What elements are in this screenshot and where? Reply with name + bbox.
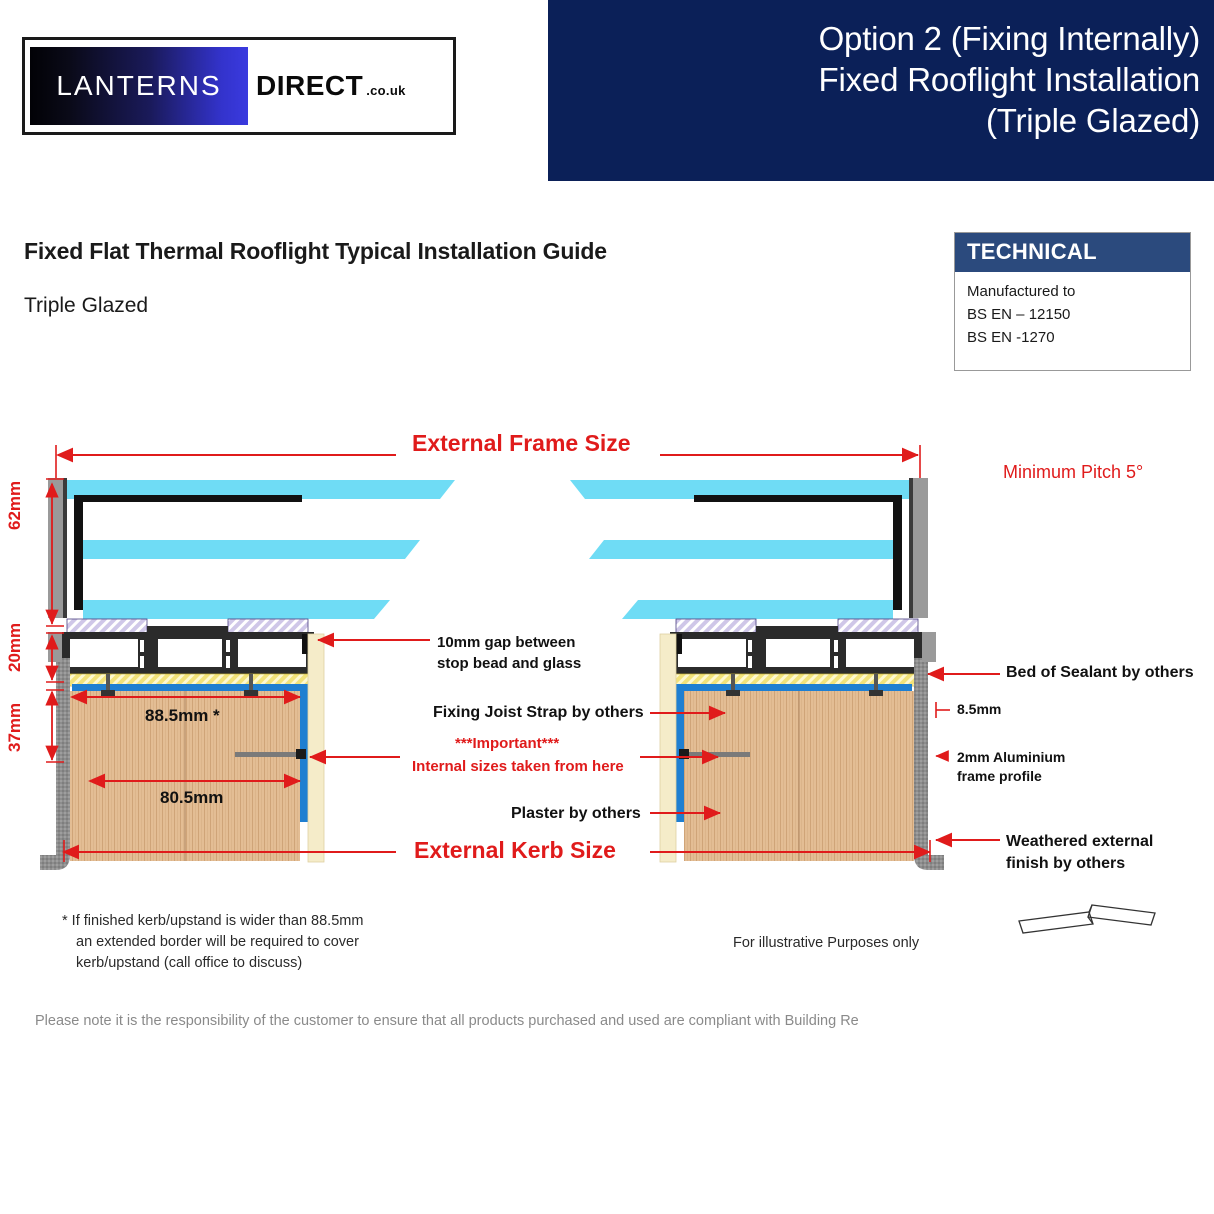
right-outer-frame-upright <box>912 478 928 618</box>
right-frame-edge-line <box>909 478 913 618</box>
gasket-hatch-right-2 <box>838 619 918 633</box>
page-title: Fixed Flat Thermal Rooflight Typical Ins… <box>24 238 607 265</box>
callout-2mm-aluminium: 2mm Aluminium frame profile <box>957 748 1065 786</box>
brand-logo-lanterns-block: LANTERNS <box>30 47 248 125</box>
brand-logo-inner: LANTERNS DIRECT .co.uk <box>30 47 448 125</box>
technical-line-2: BS EN – 12150 <box>967 303 1190 326</box>
horizontal-dim-80mm-label: 80.5mm <box>160 788 223 808</box>
technical-box-heading: TECHNICAL <box>955 233 1190 272</box>
callout-2mm-aluminium-line2: frame profile <box>957 767 1065 786</box>
vertical-dim-20mm-label: 20mm <box>5 623 25 672</box>
callout-2mm-aluminium-line1: 2mm Aluminium <box>957 748 1065 767</box>
kerb-width-note: * If finished kerb/upstand is wider than… <box>62 911 363 974</box>
kerb-width-note-line3: kerb/upstand (call office to discuss) <box>62 953 363 974</box>
gasket-hatch-left <box>67 619 147 633</box>
minimum-pitch-label: Minimum Pitch 5° <box>1003 462 1143 483</box>
header-title-line-2: Fixed Rooflight Installation <box>560 59 1200 100</box>
glass-pane-bottom <box>83 600 390 619</box>
brand-logo-lanterns-text: LANTERNS <box>56 70 221 102</box>
callout-weathered-finish-line1: Weathered external <box>1006 831 1153 853</box>
callout-10mm-gap: 10mm gap between stop bead and glass <box>437 632 581 674</box>
stop-bead-top <box>74 495 302 502</box>
aluminium-frame-profile-left <box>62 632 314 674</box>
gasket-hatch-right <box>228 619 308 633</box>
technical-line-1: Manufactured to <box>967 280 1190 303</box>
gasket-bridge-right <box>756 626 838 633</box>
callout-internal-sizes: Internal sizes taken from here <box>412 758 624 775</box>
stop-bead-upright-right <box>893 495 902 610</box>
header-title-line-1: Option 2 (Fixing Internally) <box>560 18 1200 59</box>
left-outer-frame-upright <box>48 478 64 618</box>
glass-pane-middle <box>83 540 420 559</box>
technical-box: TECHNICAL Manufactured to BS EN – 12150 … <box>954 232 1191 371</box>
brand-logo-tld-text: .co.uk <box>366 83 405 98</box>
kerb-width-note-line1: * If finished kerb/upstand is wider than… <box>62 911 363 932</box>
illustrative-purposes-note: For illustrative Purposes only <box>733 935 919 951</box>
callout-10mm-gap-line2: stop bead and glass <box>437 653 581 674</box>
external-frame-size-label: External Frame Size <box>412 430 631 457</box>
callout-bed-of-sealant: Bed of Sealant by others <box>1006 664 1194 682</box>
installation-guide-page: Option 2 (Fixing Internally) Fixed Roofl… <box>0 0 1214 1214</box>
callout-8-5mm: 8.5mm <box>957 701 1001 717</box>
vertical-dim-37mm-label: 37mm <box>5 703 25 752</box>
callout-important: ***Important*** <box>455 735 559 752</box>
vertical-dim-62mm-label: 62mm <box>5 481 25 530</box>
weathered-finish-right <box>914 658 944 870</box>
page-subtitle: Triple Glazed <box>24 294 148 318</box>
stop-bead-upright <box>74 495 83 610</box>
callout-weathered-finish-line2: finish by others <box>1006 853 1153 875</box>
left-half-assembly <box>40 478 455 870</box>
frame-outer-return-right <box>922 632 936 662</box>
header-banner: Option 2 (Fixing Internally) Fixed Roofl… <box>548 0 1214 181</box>
left-frame-edge-line <box>63 478 67 618</box>
leader-8-5mm <box>936 702 950 718</box>
compliance-footer-note: Please note it is the responsibility of … <box>35 1013 859 1029</box>
brand-logo: LANTERNS DIRECT .co.uk <box>22 37 456 135</box>
technical-box-body: Manufactured to BS EN – 12150 BS EN -127… <box>955 272 1190 349</box>
minimum-pitch-icon <box>1019 905 1155 933</box>
glass-pane-middle-right <box>589 540 893 559</box>
installation-cross-section-diagram: External Frame Size External Kerb Size M… <box>0 400 1214 980</box>
frame-outer-return-left <box>48 632 62 662</box>
gasket-bridge <box>147 626 228 633</box>
gasket-hatch-right-1 <box>676 619 756 633</box>
kerb-width-note-line2: an extended border will be required to c… <box>62 932 363 953</box>
diagram-svg <box>0 400 1214 980</box>
technical-line-3: BS EN -1270 <box>967 326 1190 349</box>
stop-bead-top-right <box>694 495 902 502</box>
callout-fixing-joist-strap: Fixing Joist Strap by others <box>433 704 644 722</box>
callout-10mm-gap-line1: 10mm gap between <box>437 632 581 653</box>
brand-logo-direct-text: DIRECT <box>256 70 363 102</box>
aluminium-frame-profile-right <box>670 632 922 674</box>
plaster-board-left <box>308 634 324 862</box>
glass-pane-bottom-right <box>622 600 893 619</box>
brand-logo-direct-block: DIRECT .co.uk <box>248 47 448 125</box>
callout-plaster-by-others: Plaster by others <box>511 805 641 823</box>
plaster-board-right <box>660 634 676 862</box>
header-title: Option 2 (Fixing Internally) Fixed Roofl… <box>560 18 1200 141</box>
horizontal-dim-88mm-label: 88.5mm * <box>145 706 220 726</box>
header-title-line-3: (Triple Glazed) <box>560 100 1200 141</box>
callout-weathered-finish: Weathered external finish by others <box>1006 831 1153 875</box>
external-kerb-size-label: External Kerb Size <box>414 837 616 864</box>
